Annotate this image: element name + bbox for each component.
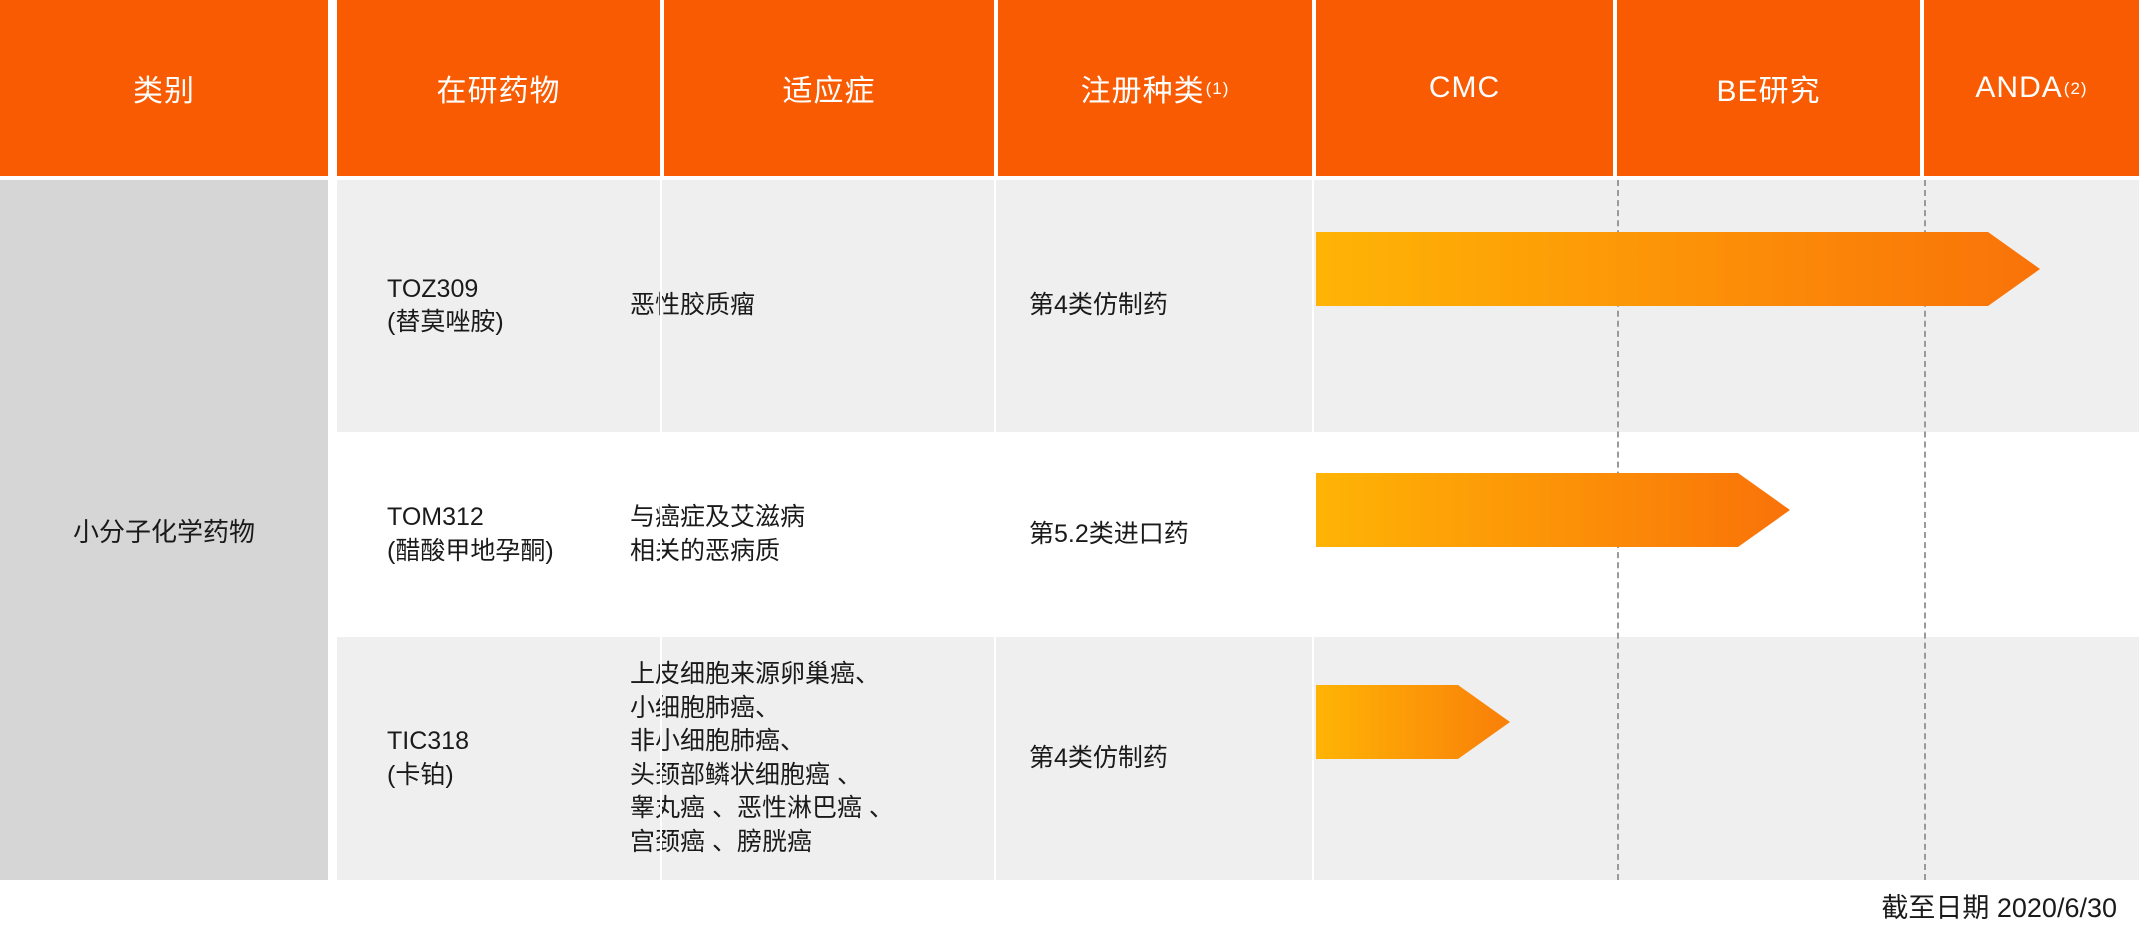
cell-drug: TIC318 (卡铂) (387, 637, 617, 880)
category-cell: 小分子化学药物 (0, 180, 328, 880)
drug-generic-name: (醋酸甲地孕酮) (387, 535, 617, 569)
column-header-registration-type: 注册种类(1) (998, 0, 1312, 176)
column-header-indication: 适应症 (664, 0, 994, 176)
table-header-row: 类别 在研药物 适应症 注册种类(1) CMC BE研究 ANDA(2) (0, 0, 2139, 176)
progress-arrow-toz309 (1316, 232, 2040, 306)
indication-line: 睾丸癌 、恶性淋巴癌 、 (630, 792, 940, 826)
indication-line: 与癌症及艾滋病 (630, 501, 940, 535)
registration-type-value: 第5.2类进口药 (1029, 518, 1329, 552)
drug-code: TOZ309 (387, 273, 617, 307)
cell-indication: 与癌症及艾滋病 相关的恶病质 (630, 432, 940, 637)
footnote-marker-1: (1) (1206, 80, 1230, 97)
column-header-be-study: BE研究 (1617, 0, 1920, 176)
drug-code: TIC318 (387, 725, 617, 759)
indication-line: 头颈部鳞状细胞癌 、 (630, 759, 940, 793)
column-header-registration-type-label: 注册种类 (1081, 66, 1205, 110)
column-separator (660, 180, 662, 880)
indication-line: 相关的恶病质 (630, 535, 940, 569)
table-row: TOZ309 (替莫唑胺) 恶性胶质瘤 第4类仿制药 (337, 180, 2139, 432)
table-row: TIC318 (卡铂) 上皮细胞来源卵巢癌、 小细胞肺癌、 非小细胞肺癌、 头颈… (337, 637, 2139, 880)
column-header-category-label: 类别 (133, 66, 195, 110)
column-separator (1312, 180, 1314, 880)
drug-code: TOM312 (387, 501, 617, 535)
table-body: 小分子化学药物 TOZ309 (替莫唑胺) 恶性胶质瘤 第4类仿制药 TOM31… (0, 180, 2139, 880)
indication-line: 宫颈癌 、膀胱癌 (630, 826, 940, 860)
column-header-anda-label: ANDA (1975, 71, 2062, 105)
column-header-category: 类别 (0, 0, 328, 176)
cell-indication: 上皮细胞来源卵巢癌、 小细胞肺癌、 非小细胞肺癌、 头颈部鳞状细胞癌 、 睾丸癌… (630, 637, 940, 880)
column-header-cmc-label: CMC (1429, 71, 1500, 105)
indication-line: 小细胞肺癌、 (630, 692, 940, 726)
drug-generic-name: (卡铂) (387, 759, 617, 793)
pipeline-table: 类别 在研药物 适应症 注册种类(1) CMC BE研究 ANDA(2) 小分子… (0, 0, 2139, 880)
column-header-drug-label: 在研药物 (437, 66, 561, 110)
indication-line: 非小细胞肺癌、 (630, 725, 940, 759)
cell-registration-type: 第4类仿制药 (1029, 637, 1329, 880)
cell-drug: TOZ309 (替莫唑胺) (387, 180, 617, 432)
as-of-date-footnote: 截至日期 2020/6/30 (1881, 886, 2117, 925)
cell-registration-type: 第4类仿制药 (1029, 180, 1329, 432)
indication-line: 恶性胶质瘤 (630, 289, 940, 323)
column-separator (328, 180, 330, 880)
column-header-cmc: CMC (1316, 0, 1613, 176)
table-row: TOM312 (醋酸甲地孕酮) 与癌症及艾滋病 相关的恶病质 第5.2类进口药 (337, 432, 2139, 637)
cell-registration-type: 第5.2类进口药 (1029, 432, 1329, 637)
column-separator (994, 180, 996, 880)
column-header-indication-label: 适应症 (783, 66, 876, 110)
cell-drug: TOM312 (醋酸甲地孕酮) (387, 432, 617, 637)
progress-arrow-tic318 (1316, 685, 1510, 759)
column-header-drug: 在研药物 (337, 0, 660, 176)
footnote-marker-2: (2) (2064, 80, 2088, 97)
drug-generic-name: (替莫唑胺) (387, 306, 617, 340)
column-header-be-study-label: BE研究 (1716, 66, 1820, 110)
indication-line: 上皮细胞来源卵巢癌、 (630, 658, 940, 692)
category-label: 小分子化学药物 (73, 512, 255, 549)
registration-type-value: 第4类仿制药 (1029, 742, 1329, 776)
registration-type-value: 第4类仿制药 (1029, 289, 1329, 323)
column-header-anda: ANDA(2) (1924, 0, 2139, 176)
progress-arrow-tom312 (1316, 473, 1790, 547)
cell-indication: 恶性胶质瘤 (630, 180, 940, 432)
